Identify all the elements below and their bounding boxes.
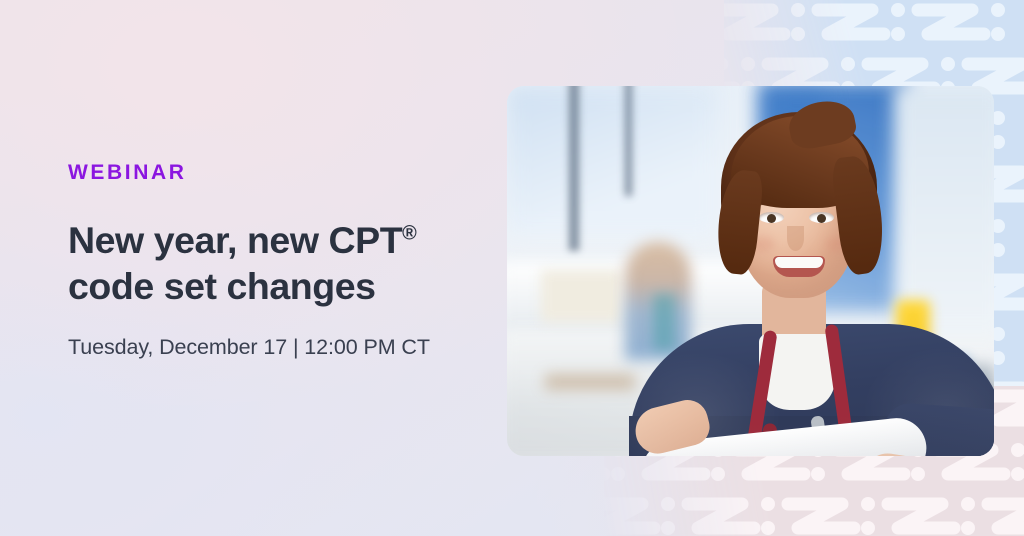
eyebrow-label: WEBINAR (68, 162, 488, 183)
banner-text-column: WEBINAR New year, new CPT®code set chang… (68, 162, 488, 361)
page-title: New year, new CPT®code set changes (68, 217, 468, 309)
headline-line-1: New year, new CPT (68, 219, 402, 261)
headline-line-2: code set changes (68, 265, 376, 307)
nurse-photo (507, 86, 994, 456)
hero-photo-card (507, 86, 994, 456)
photo-vignette (507, 86, 994, 456)
registered-trademark-icon: ® (402, 223, 416, 245)
event-datetime: Tuesday, December 17 | 12:00 PM CT (68, 335, 488, 361)
webinar-promo-banner: WEBINAR New year, new CPT®code set chang… (0, 0, 1024, 536)
